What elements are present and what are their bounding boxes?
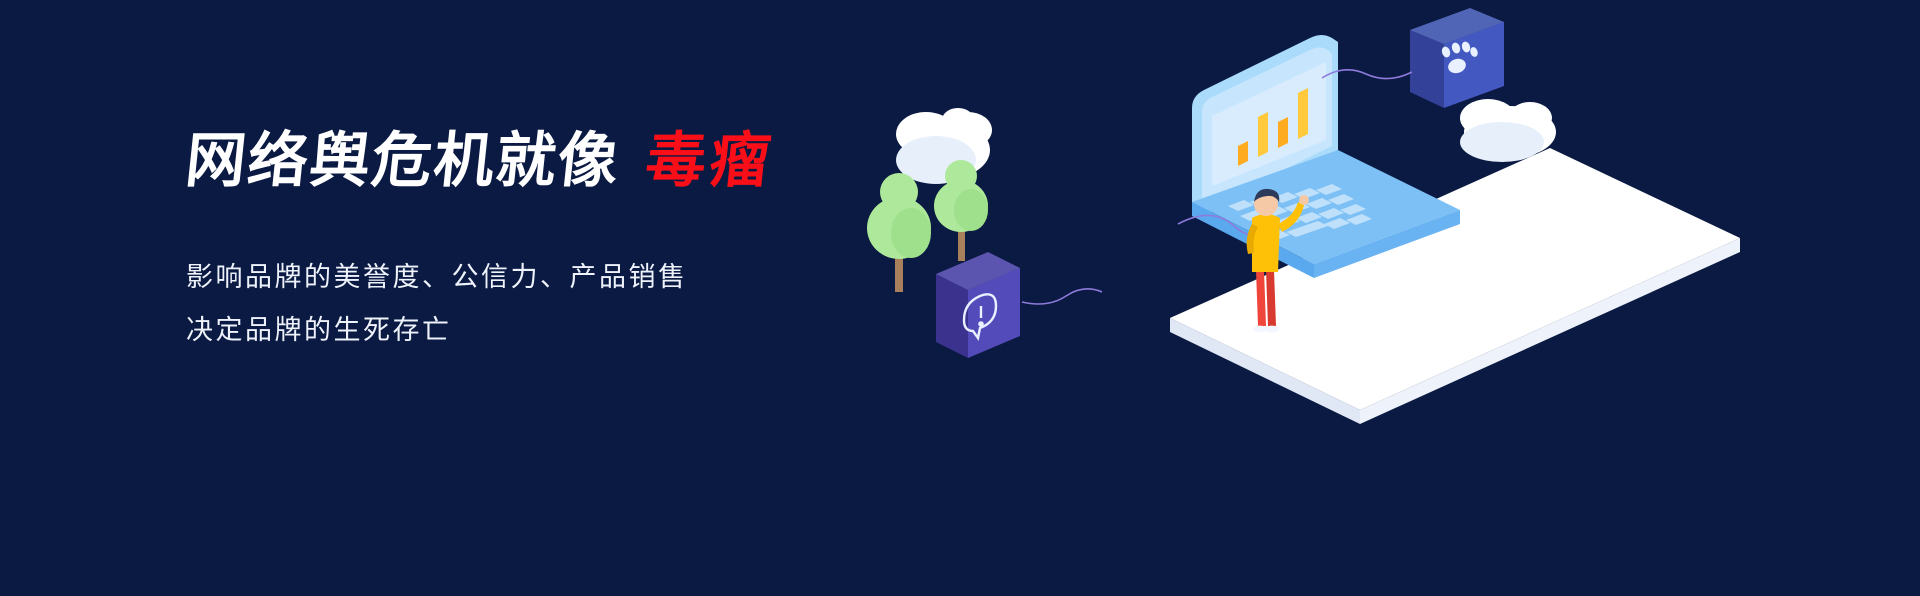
headline-lead: 网络舆危机就像: [182, 127, 623, 194]
banner-copy: 网络舆危机就像毒瘤 影响品牌的美誉度、公信力、产品销售 决定品牌的生死存亡: [186, 126, 946, 356]
hero-banner: 网络舆危机就像毒瘤 影响品牌的美誉度、公信力、产品销售 决定品牌的生死存亡: [0, 0, 1920, 596]
headline-accent: 毒瘤: [642, 127, 777, 194]
hero-illustration: [840, 0, 1920, 596]
subtitle-line-1: 影响品牌的美誉度、公信力、产品销售: [186, 251, 946, 304]
page-title: 网络舆危机就像毒瘤: [182, 126, 949, 195]
subtitle-line-2: 决定品牌的生死存亡: [186, 304, 946, 357]
tree-large-icon: [867, 173, 931, 292]
cloud-left-icon: [896, 108, 992, 184]
alert-card: [936, 252, 1020, 358]
banner-subtitle: 影响品牌的美誉度、公信力、产品销售 决定品牌的生死存亡: [186, 251, 946, 356]
paw-card: [1410, 8, 1504, 108]
